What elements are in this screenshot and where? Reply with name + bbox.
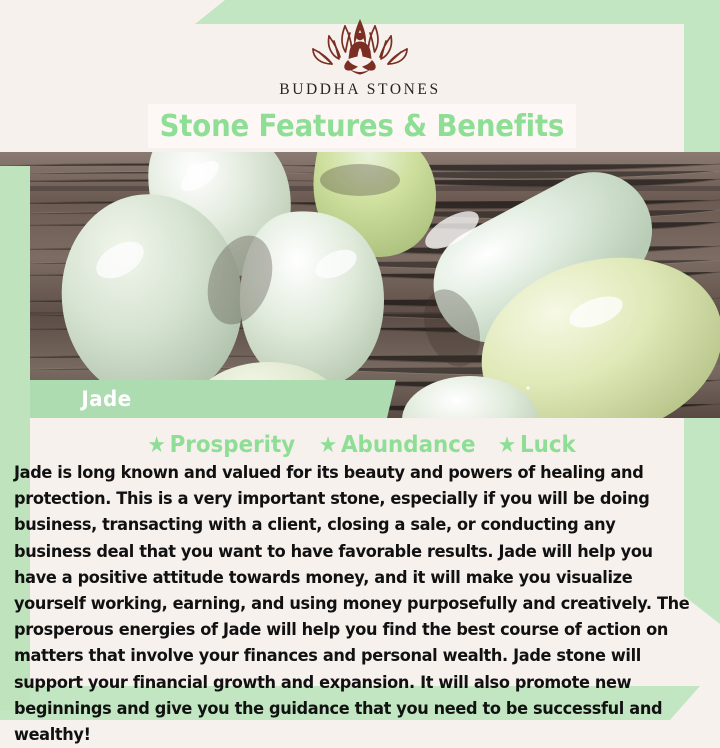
page-title: Stone Features & Benefits — [160, 109, 565, 144]
lotus-meditation-icon — [285, 16, 435, 78]
keyword-label: Prosperity — [169, 432, 295, 458]
star-icon: ★ — [147, 433, 165, 458]
keyword-luck: ★Luck — [498, 432, 576, 458]
keyword-label: Luck — [520, 432, 576, 458]
brand-name: BUDDHA STONES — [279, 81, 440, 99]
star-icon: ★ — [319, 433, 337, 458]
stone-description: Jade is long known and valued for its be… — [14, 460, 694, 748]
keyword-prosperity: ★Prosperity — [147, 432, 295, 458]
stone-name: Jade — [81, 387, 131, 411]
brand-header: BUDDHA STONES — [0, 0, 720, 112]
keyword-abundance: ★Abundance — [319, 432, 476, 458]
stone-description-box: Jade is long known and valued for its be… — [14, 460, 704, 696]
keyword-label: Abundance — [341, 432, 475, 458]
section-title-banner: Stone Features & Benefits — [148, 104, 576, 148]
stone-keywords: ★Prosperity ★Abundance ★Luck — [0, 428, 720, 462]
stone-photo — [0, 152, 720, 418]
stone-name-banner: Jade — [30, 380, 396, 418]
star-icon: ★ — [498, 433, 516, 458]
